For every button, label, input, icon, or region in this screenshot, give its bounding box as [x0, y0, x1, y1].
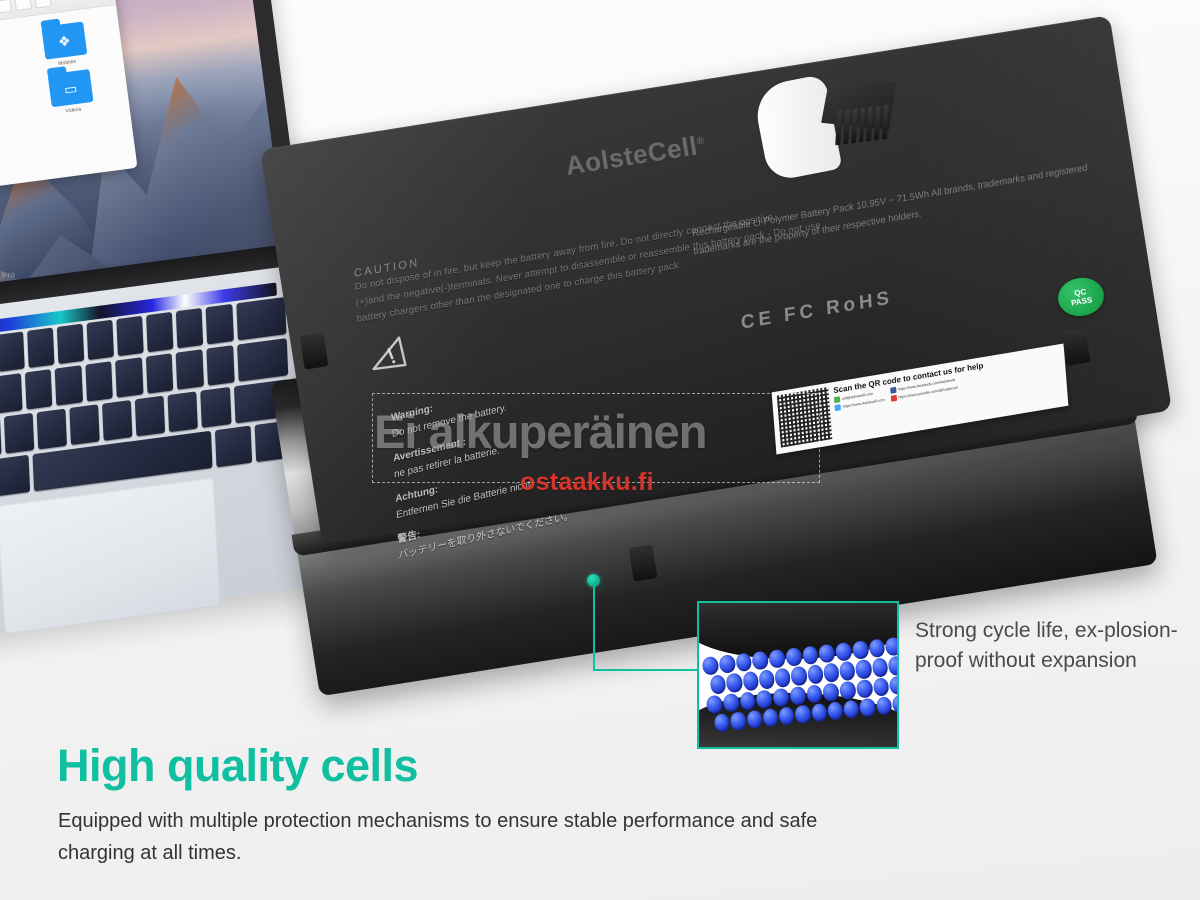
- cell: [730, 711, 747, 731]
- key[interactable]: [0, 331, 25, 372]
- connector-pin: [866, 107, 873, 142]
- connector-pin: [859, 107, 866, 142]
- key[interactable]: [135, 396, 166, 437]
- folder-label: Telechargements: [0, 114, 24, 132]
- cell: [827, 701, 844, 721]
- cell: [859, 698, 876, 718]
- folder-mobiles-icon: ❖: [41, 21, 87, 59]
- cell: [843, 699, 860, 719]
- cell-closeup-scene: [699, 603, 897, 747]
- cell: [891, 694, 899, 714]
- callout-leader-line: [593, 669, 698, 671]
- cell: [887, 656, 899, 676]
- connector-pin: [835, 110, 842, 145]
- cell: [756, 689, 774, 709]
- key[interactable]: [168, 391, 199, 432]
- finder-button-1[interactable]: [0, 0, 12, 14]
- cell: [762, 708, 779, 728]
- cell: [739, 691, 757, 711]
- connector-pins: [835, 105, 888, 146]
- cell: [722, 693, 740, 713]
- key[interactable]: [36, 409, 67, 450]
- cell: [714, 713, 731, 733]
- cell: [710, 675, 727, 695]
- callout-caption: Strong cycle life, ex-plosion-proof with…: [915, 616, 1183, 676]
- page-subcopy: Equipped with multiple protection mechan…: [58, 805, 848, 870]
- key[interactable]: [115, 357, 143, 398]
- cell: [875, 696, 892, 716]
- connector-pin: [874, 106, 881, 141]
- key[interactable]: [102, 400, 133, 441]
- cell: [855, 659, 872, 679]
- key[interactable]: [146, 353, 174, 394]
- warning-ja-title: 警告:: [397, 529, 420, 545]
- key[interactable]: [69, 404, 100, 445]
- key[interactable]: [176, 349, 204, 390]
- battery-mounting-clip: [628, 544, 657, 581]
- key[interactable]: [206, 304, 233, 345]
- cell: [794, 704, 811, 724]
- cell: [889, 675, 899, 695]
- cell: [856, 679, 874, 699]
- cell: [851, 640, 869, 660]
- cell: [872, 677, 890, 697]
- key[interactable]: [215, 426, 252, 468]
- key[interactable]: [55, 365, 83, 406]
- finder-button-3[interactable]: [34, 0, 52, 9]
- key[interactable]: [3, 413, 34, 454]
- cell: [785, 647, 803, 667]
- battery-mounting-clip: [299, 332, 328, 369]
- cell: [758, 669, 775, 689]
- key[interactable]: [117, 316, 144, 357]
- key[interactable]: [201, 387, 232, 428]
- cell: [706, 694, 724, 714]
- callout-leader-line: [593, 586, 595, 670]
- cell: [789, 686, 807, 706]
- watermark-site: ostaakku.fi: [520, 468, 654, 497]
- cell: [735, 653, 753, 673]
- cell: [885, 637, 899, 657]
- key[interactable]: [0, 373, 22, 414]
- cell: [806, 684, 824, 704]
- list-item[interactable]: ▭ Videos: [23, 66, 120, 120]
- cell: [742, 671, 759, 691]
- cell: [790, 666, 807, 686]
- cell: [807, 664, 824, 684]
- key[interactable]: [85, 361, 113, 402]
- cell: [818, 644, 836, 664]
- youtube-icon: [890, 395, 896, 402]
- page-title: High quality cells: [57, 740, 418, 792]
- key[interactable]: [0, 455, 30, 497]
- cell: [746, 709, 763, 729]
- cell: [772, 687, 790, 707]
- cell: [839, 661, 856, 681]
- key[interactable]: [25, 369, 53, 410]
- product-marketing-image: ▣ Images ❖ Mobiles ↧ Telechargements ▭ V…: [0, 0, 1200, 900]
- cell: [702, 656, 720, 676]
- connector-pin: [851, 108, 858, 143]
- cell: [811, 703, 828, 723]
- cell: [774, 668, 791, 688]
- cell: [839, 680, 857, 700]
- facebook-icon: [890, 387, 896, 394]
- key[interactable]: [146, 312, 173, 353]
- watermark-text: Ei alkuperäinen: [374, 404, 844, 459]
- finder-window[interactable]: ▣ Images ❖ Mobiles ↧ Telechargements ▭ V…: [0, 0, 138, 195]
- key[interactable]: [176, 308, 203, 349]
- cell: [718, 654, 736, 674]
- cell: [871, 658, 888, 678]
- cell: [726, 673, 743, 693]
- finder-file-grid: ▣ Images ❖ Mobiles ↧ Telechargements ▭ V…: [0, 5, 129, 133]
- polymer-cell-array-inset: [697, 601, 899, 749]
- cell: [768, 649, 786, 669]
- list-item[interactable]: ▣ Images: [0, 31, 18, 85]
- cell: [822, 682, 840, 702]
- battery-mounting-clip: [1061, 328, 1090, 365]
- cell: [835, 642, 853, 662]
- key[interactable]: [87, 320, 114, 361]
- brand-trademark-mark: ®: [696, 135, 706, 147]
- list-item[interactable]: ↧ Telechargements: [0, 78, 24, 132]
- qc-badge-line2: PASS: [1071, 295, 1093, 307]
- cell: [752, 651, 770, 671]
- cell: [868, 639, 886, 659]
- key[interactable]: [206, 345, 234, 386]
- cell: [778, 706, 795, 726]
- cell: [823, 663, 840, 683]
- mail-icon: [834, 396, 840, 403]
- key[interactable]: [0, 417, 1, 458]
- laptop-trackpad[interactable]: [0, 478, 221, 635]
- connector-pin: [843, 109, 850, 144]
- cell: [802, 646, 820, 666]
- key[interactable]: [27, 327, 54, 368]
- key[interactable]: [57, 324, 84, 365]
- finder-button-2[interactable]: [14, 0, 32, 11]
- list-item[interactable]: ❖ Mobiles: [17, 18, 114, 72]
- folder-videos-icon: ▭: [48, 69, 94, 107]
